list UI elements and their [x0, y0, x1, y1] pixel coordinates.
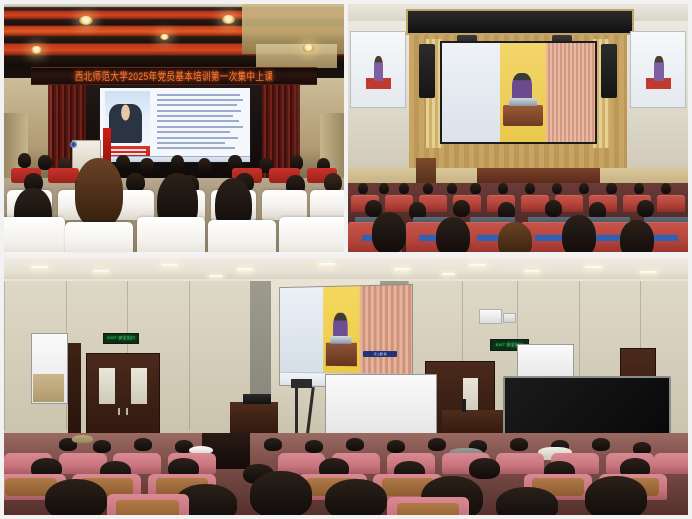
audience-head [525, 183, 535, 194]
audience-head [171, 155, 185, 170]
ceiling-light [585, 266, 601, 270]
audience-head [447, 183, 457, 194]
audience-head [634, 183, 644, 194]
audience-head [552, 183, 562, 194]
ceiling-light [319, 263, 335, 267]
ceiling-downlight [303, 44, 314, 52]
audience-head [264, 438, 282, 451]
audience-head [116, 155, 130, 170]
wall-control-box-small [503, 313, 516, 323]
ceiling-light [640, 271, 656, 275]
door-handle[interactable] [118, 408, 120, 415]
audience-head [140, 158, 154, 173]
loudspeaker-right [601, 44, 616, 99]
video-podium [326, 342, 357, 366]
led-banner: 西北师范大学2025年党员基本培训第一次集中上课 [31, 67, 317, 85]
audience-head-foreground [436, 217, 470, 252]
audience-head [510, 438, 528, 451]
chair-cover-foreground [208, 220, 276, 252]
university-emblem [70, 141, 77, 148]
seat-number-plate [593, 235, 620, 241]
chair-cover-foreground [137, 217, 205, 252]
microphone-stand [462, 399, 465, 412]
door-frame-accent-left [68, 343, 82, 433]
fire-equipment-sign-label: 灭火器 箱 [374, 352, 387, 356]
audience-head [592, 438, 610, 451]
door-glass-pane [131, 368, 147, 404]
audience-head [606, 183, 616, 194]
audience-head [198, 158, 212, 173]
audience-head [18, 153, 32, 168]
ceiling-light [31, 266, 47, 270]
exit-sign-left: EXIT 安全出口 [103, 333, 139, 344]
ceiling-light [237, 268, 253, 272]
ceiling-light [469, 264, 485, 268]
audience-head-foreground [372, 212, 406, 252]
main-projection-screen [440, 41, 597, 144]
audience-head [379, 183, 389, 194]
chair-cover [310, 190, 344, 220]
photo-panel-room-wide: EXIT 安全出口 EXIT 安全出口 [4, 258, 688, 515]
av-cart [230, 402, 278, 433]
auditorium-seat-foreground [387, 497, 469, 515]
wall-control-box [479, 309, 502, 324]
audience-head [637, 200, 654, 217]
ceiling-light [209, 275, 223, 278]
audience-head [387, 440, 405, 453]
chair-cover-foreground [4, 217, 65, 252]
video-curtain-region [360, 285, 412, 375]
audience-head-foreground [250, 471, 312, 515]
audience-head-foreground [620, 220, 654, 252]
camera-head [291, 379, 312, 388]
audience-head [134, 438, 152, 451]
notice-board-lower [33, 374, 64, 402]
chair-cover [262, 190, 306, 220]
audience-head [346, 438, 364, 451]
video-laptop [331, 336, 352, 343]
audience-head-foreground [585, 476, 647, 515]
audience-head-foreground [498, 222, 532, 252]
ceiling-light [394, 268, 410, 272]
double-door-left [86, 353, 160, 435]
audience-head-foreground [75, 158, 123, 227]
laptop-on-cart [243, 394, 270, 404]
led-banner-text: 西北师范大学2025年党员基本培训第一次集中上课 [75, 69, 274, 84]
presentation-screen [99, 87, 251, 163]
loudspeaker-left [419, 44, 434, 99]
side-screen-left [350, 31, 406, 107]
stage-valance [406, 9, 634, 35]
photo-panel-hall-screen [348, 4, 688, 252]
stage-table [477, 168, 599, 183]
fire-equipment-sign: 灭火器 箱 [363, 351, 397, 358]
audience-head [399, 183, 409, 194]
auditorium-seat [657, 195, 684, 212]
audience-head [469, 458, 500, 479]
audience-head [93, 440, 111, 453]
audience-head-foreground [45, 479, 107, 515]
video-laptop [509, 98, 537, 106]
video-curtain-region [546, 43, 595, 142]
slide-speaker-photo [109, 104, 142, 143]
auditorium-seat-foreground [107, 494, 189, 515]
exit-sign-label: EXIT 安全出口 [107, 335, 135, 341]
audience-head [545, 200, 562, 217]
video-left-region [280, 287, 323, 374]
ceiling-light [524, 270, 540, 274]
side-screen-speaker [654, 56, 664, 81]
audience-head [579, 183, 589, 194]
chair-cover-foreground [65, 222, 133, 252]
ceiling-tan-panel-secondary [256, 44, 338, 69]
audience-head [428, 438, 446, 451]
slide-body-text [157, 93, 244, 153]
chair-cover-foreground [279, 217, 344, 252]
ceiling-downlight [222, 15, 235, 24]
ceiling-light [93, 270, 109, 274]
audience-head-foreground [496, 487, 558, 515]
audience-head [498, 183, 508, 194]
photo-collage: 西北师范大学2025年党员基本培训第一次集中上课 [0, 0, 692, 519]
seat-cushion [116, 500, 178, 515]
door-handle[interactable] [126, 408, 128, 415]
person-with-cap [72, 435, 93, 443]
side-screen-right [630, 31, 686, 107]
audience-head [305, 440, 323, 453]
audience-head [423, 183, 433, 194]
photo-panel-hall-banner: 西北师范大学2025年党员基本培训第一次集中上课 [4, 4, 344, 252]
video-podium [503, 105, 543, 127]
ceiling-downlight [160, 34, 169, 40]
ceiling-light [161, 264, 177, 268]
audience-head [453, 200, 470, 217]
display-stand-cabinet [442, 410, 504, 436]
audience-head-foreground [562, 215, 596, 252]
video-left-region [442, 43, 500, 142]
audience-head [661, 183, 671, 194]
audience-head [358, 183, 368, 194]
whiteboard-leaning [325, 374, 436, 435]
seat-cushion [397, 503, 459, 515]
door-glass-pane [99, 368, 115, 404]
audience-head-foreground [325, 479, 387, 515]
side-screen-speaker [374, 56, 384, 81]
seat-number-plate [535, 235, 562, 241]
seat-number-plate [651, 235, 678, 241]
auditorium-seat [496, 453, 544, 474]
stage-lectern [416, 158, 436, 185]
auditorium-seat [654, 453, 688, 474]
chair-back [48, 168, 79, 183]
audience-head [470, 183, 480, 194]
